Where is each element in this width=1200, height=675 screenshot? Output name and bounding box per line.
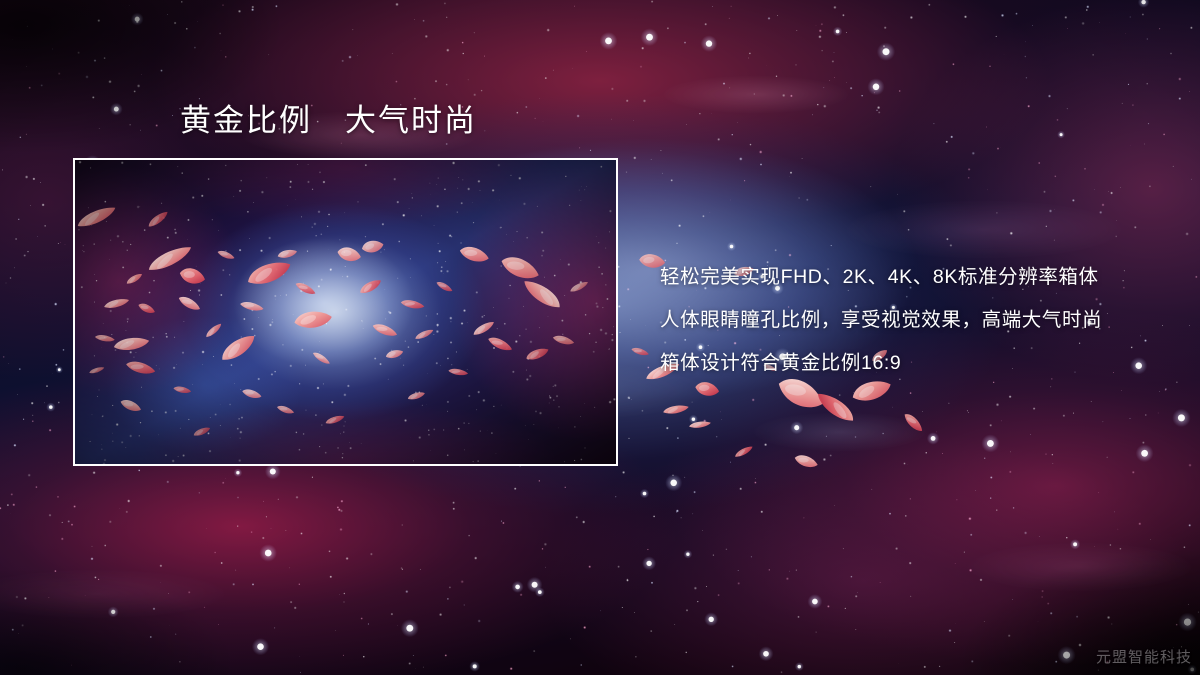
watermark: 元盟智能科技 [1096,646,1192,667]
framed-photo-content [75,160,616,464]
body-copy: 轻松完美实现FHD、2K、4K、8K标准分辨率箱体 人体眼睛瞳孔比例，享受视觉效… [660,256,1102,385]
body-copy-line-3: 箱体设计符合黄金比例16:9 [660,342,1102,385]
framed-photo [73,158,618,466]
page-title: 黄金比例 大气时尚 [180,101,477,141]
presentation-slide: 黄金比例 大气时尚 轻松完美实现FHD、2K、4K、8K标准分辨率箱体 人体眼睛… [0,0,1200,675]
photo-vignette [75,160,616,464]
body-copy-line-1: 轻松完美实现FHD、2K、4K、8K标准分辨率箱体 [660,256,1102,299]
body-copy-line-2: 人体眼睛瞳孔比例，享受视觉效果，高端大气时尚 [660,299,1102,342]
